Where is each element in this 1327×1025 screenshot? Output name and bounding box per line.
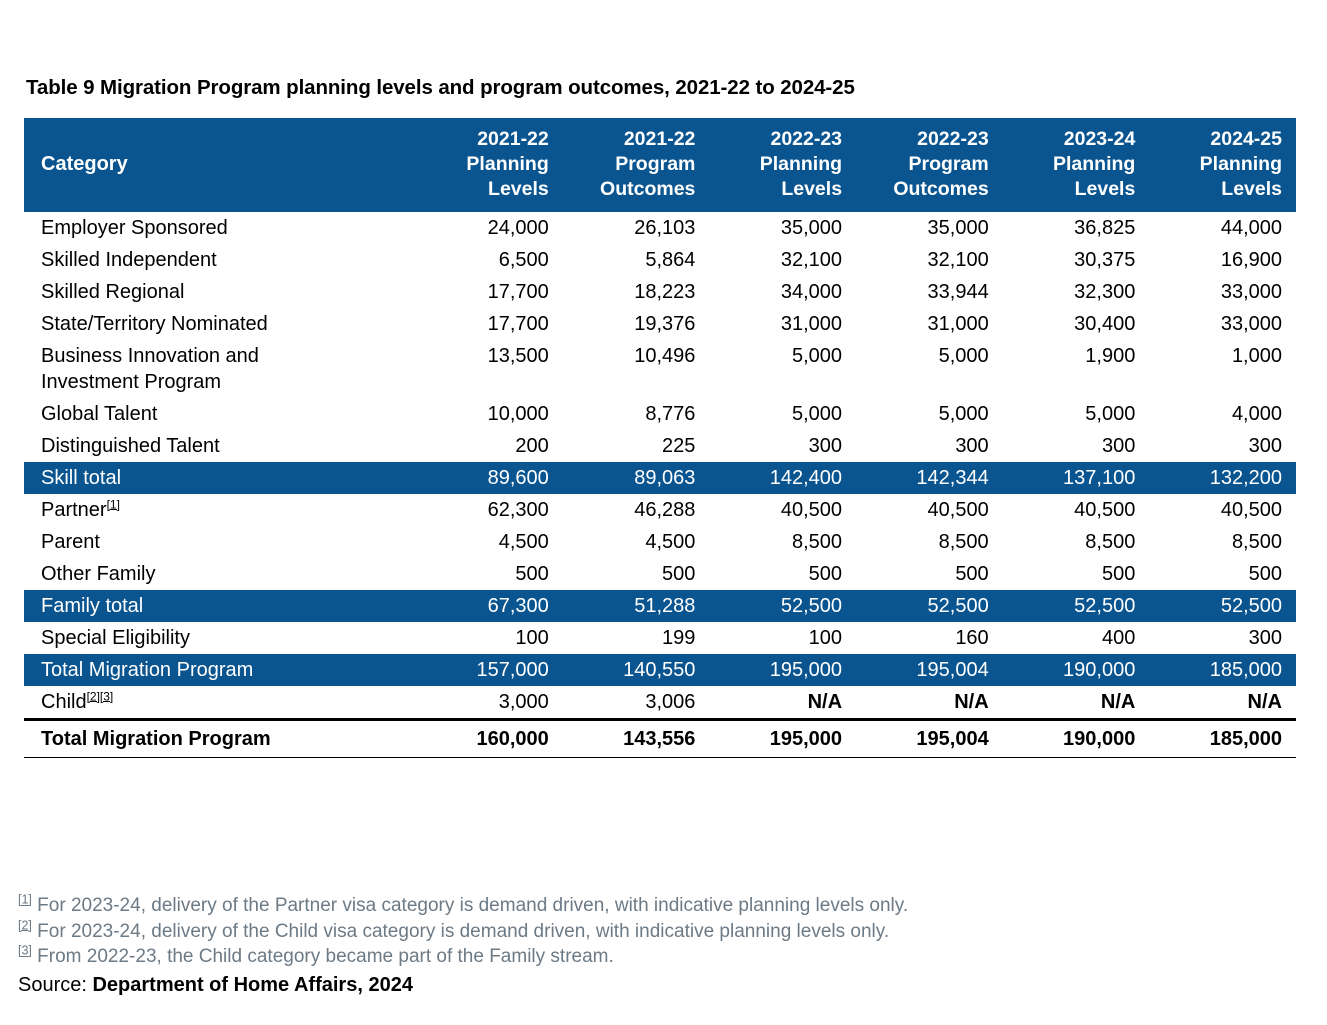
cell-value: 52,500 — [1149, 590, 1296, 622]
cell-value: 4,500 — [416, 526, 563, 558]
table-title: Table 9 Migration Program planning level… — [26, 76, 855, 100]
cell-value: 19,376 — [563, 308, 710, 340]
cell-value: 300 — [856, 430, 1003, 462]
footnote-1-text: For 2023-24, delivery of the Partner vis… — [32, 895, 908, 916]
footnote-2-text: For 2023-24, delivery of the Child visa … — [32, 921, 889, 942]
table-row: Total Migration Program160,000143,556195… — [24, 720, 1296, 758]
row-category-label: Family total — [24, 590, 416, 622]
column-header-line: Planning — [723, 152, 842, 177]
cell-value: 13,500 — [416, 340, 563, 398]
cell-value: 500 — [856, 558, 1003, 590]
source-label: Source: — [18, 974, 92, 996]
table-header-row: Category 2021-22PlanningLevels 2021-22Pr… — [24, 118, 1296, 212]
cell-value: 185,000 — [1149, 720, 1296, 758]
cell-value: 52,500 — [856, 590, 1003, 622]
cell-value: 31,000 — [856, 308, 1003, 340]
source-line: Source: Department of Home Affairs, 2024 — [18, 972, 1308, 998]
row-category-label: Total Migration Program — [24, 720, 416, 758]
cell-value: 100 — [709, 622, 856, 654]
row-category-label: Other Family — [24, 558, 416, 590]
cell-value: 51,288 — [563, 590, 710, 622]
cell-value: 24,000 — [416, 212, 563, 244]
cell-value: 8,500 — [1003, 526, 1150, 558]
cell-value: 33,944 — [856, 276, 1003, 308]
table-row: Other Family500500500500500500 — [24, 558, 1296, 590]
cell-value: 500 — [709, 558, 856, 590]
table-header: Category 2021-22PlanningLevels 2021-22Pr… — [24, 118, 1296, 212]
column-header-line: Program — [577, 152, 696, 177]
cell-value: 36,825 — [1003, 212, 1150, 244]
footnote-1: [1] For 2023-24, delivery of the Partner… — [18, 893, 1308, 919]
cell-value: 195,000 — [709, 654, 856, 686]
cell-value: 40,500 — [1003, 494, 1150, 526]
footnote-3-marker: [3] — [18, 944, 32, 958]
cell-value: 40,500 — [1149, 494, 1296, 526]
cell-value: 500 — [563, 558, 710, 590]
row-category-label: Total Migration Program — [24, 654, 416, 686]
cell-value: 190,000 — [1003, 654, 1150, 686]
column-header-line: Outcomes — [577, 177, 696, 202]
cell-value: 26,103 — [563, 212, 710, 244]
cell-value: 89,600 — [416, 462, 563, 494]
table-row: Employer Sponsored24,00026,10335,00035,0… — [24, 212, 1296, 244]
cell-value: 8,500 — [1149, 526, 1296, 558]
table-row: Special Eligibility100199100160400300 — [24, 622, 1296, 654]
cell-value: 31,000 — [709, 308, 856, 340]
column-header-line: Planning — [430, 152, 549, 177]
cell-value: 195,000 — [709, 720, 856, 758]
column-header-line: 2021-22 — [430, 127, 549, 152]
cell-value: N/A — [1149, 686, 1296, 720]
table-row: Skilled Regional17,70018,22334,00033,944… — [24, 276, 1296, 308]
cell-value: 142,344 — [856, 462, 1003, 494]
column-header-line: Levels — [1163, 177, 1282, 202]
footnote-1-marker: [1] — [18, 893, 32, 907]
cell-value: 157,000 — [416, 654, 563, 686]
cell-value: N/A — [1003, 686, 1150, 720]
table-row: Global Talent10,0008,7765,0005,0005,0004… — [24, 398, 1296, 430]
row-category-label: Child[2][3] — [24, 686, 416, 720]
column-header-2023-24-planning-levels: 2023-24PlanningLevels — [1003, 118, 1150, 212]
cell-value: 5,000 — [1003, 398, 1150, 430]
cell-value: 40,500 — [856, 494, 1003, 526]
column-header-line: 2023-24 — [1017, 127, 1136, 152]
footnote-2: [2] For 2023-24, delivery of the Child v… — [18, 919, 1308, 945]
row-category-label: Distinguished Talent — [24, 430, 416, 462]
cell-value: 32,100 — [856, 244, 1003, 276]
cell-value: 52,500 — [709, 590, 856, 622]
table-row: Parent4,5004,5008,5008,5008,5008,500 — [24, 526, 1296, 558]
column-header-line: Planning — [1163, 152, 1282, 177]
cell-value: 160 — [856, 622, 1003, 654]
cell-value: 16,900 — [1149, 244, 1296, 276]
document-page: Table 9 Migration Program planning level… — [0, 0, 1327, 1025]
cell-value: N/A — [709, 686, 856, 720]
footnotes-block: [1] For 2023-24, delivery of the Partner… — [18, 893, 1308, 998]
column-header-line: Outcomes — [870, 177, 989, 202]
table-row: Partner[1]62,30046,28840,50040,50040,500… — [24, 494, 1296, 526]
cell-value: 5,000 — [709, 340, 856, 398]
cell-value: 195,004 — [856, 720, 1003, 758]
cell-value: 190,000 — [1003, 720, 1150, 758]
column-header-line: 2024-25 — [1163, 127, 1282, 152]
cell-value: 8,776 — [563, 398, 710, 430]
table-row: Total Migration Program157,000140,550195… — [24, 654, 1296, 686]
cell-value: 40,500 — [709, 494, 856, 526]
cell-value: 10,000 — [416, 398, 563, 430]
table-row: Business Innovation and Investment Progr… — [24, 340, 1296, 398]
cell-value: 67,300 — [416, 590, 563, 622]
cell-value: 33,000 — [1149, 308, 1296, 340]
cell-value: 100 — [416, 622, 563, 654]
row-category-label: Skilled Independent — [24, 244, 416, 276]
row-category-label: Parent — [24, 526, 416, 558]
row-category-label: Skill total — [24, 462, 416, 494]
cell-value: 33,000 — [1149, 276, 1296, 308]
footnote-marker[interactable]: [1] — [107, 497, 120, 511]
cell-value: 32,300 — [1003, 276, 1150, 308]
cell-value: 137,100 — [1003, 462, 1150, 494]
footnote-marker[interactable]: [3] — [100, 689, 113, 703]
cell-value: 62,300 — [416, 494, 563, 526]
cell-value: 4,500 — [563, 526, 710, 558]
cell-value: 3,000 — [416, 686, 563, 720]
cell-value: 5,000 — [709, 398, 856, 430]
cell-value: 52,500 — [1003, 590, 1150, 622]
cell-value: 225 — [563, 430, 710, 462]
table-body: Employer Sponsored24,00026,10335,00035,0… — [24, 212, 1296, 758]
migration-program-table: Category 2021-22PlanningLevels 2021-22Pr… — [24, 118, 1296, 758]
cell-value: 300 — [1003, 430, 1150, 462]
cell-value: 46,288 — [563, 494, 710, 526]
table-row: Family total67,30051,28852,50052,50052,5… — [24, 590, 1296, 622]
table-row: State/Territory Nominated17,70019,37631,… — [24, 308, 1296, 340]
cell-value: 185,000 — [1149, 654, 1296, 686]
cell-value: 400 — [1003, 622, 1150, 654]
cell-value: 4,000 — [1149, 398, 1296, 430]
cell-value: 6,500 — [416, 244, 563, 276]
cell-value: 8,500 — [856, 526, 1003, 558]
column-header-2021-22-program-outcomes: 2021-22ProgramOutcomes — [563, 118, 710, 212]
cell-value: 199 — [563, 622, 710, 654]
column-header-2024-25-planning-levels: 2024-25PlanningLevels — [1149, 118, 1296, 212]
source-value: Department of Home Affairs, 2024 — [92, 974, 412, 996]
column-header-2022-23-planning-levels: 2022-23PlanningLevels — [709, 118, 856, 212]
footnote-3: [3] From 2022-23, the Child category bec… — [18, 944, 1308, 970]
cell-value: 500 — [1003, 558, 1150, 590]
cell-value: 200 — [416, 430, 563, 462]
cell-value: 89,063 — [563, 462, 710, 494]
column-header-line: Levels — [1017, 177, 1136, 202]
cell-value: 30,400 — [1003, 308, 1150, 340]
column-header-line: Levels — [430, 177, 549, 202]
cell-value: 44,000 — [1149, 212, 1296, 244]
cell-value: 5,864 — [563, 244, 710, 276]
footnote-marker[interactable]: [2] — [87, 689, 100, 703]
cell-value: 18,223 — [563, 276, 710, 308]
table-row: Child[2][3]3,0003,006N/AN/AN/AN/A — [24, 686, 1296, 720]
column-header-line: Program — [870, 152, 989, 177]
cell-value: 35,000 — [856, 212, 1003, 244]
column-header-2022-23-program-outcomes: 2022-23ProgramOutcomes — [856, 118, 1003, 212]
cell-value: 32,100 — [709, 244, 856, 276]
footnote-2-marker: [2] — [18, 918, 32, 932]
row-category-label: Business Innovation and Investment Progr… — [24, 340, 416, 398]
row-category-label: Global Talent — [24, 398, 416, 430]
cell-value: 30,375 — [1003, 244, 1150, 276]
column-header-category: Category — [24, 118, 416, 212]
cell-value: 300 — [1149, 430, 1296, 462]
cell-value: 17,700 — [416, 276, 563, 308]
column-header-line: 2021-22 — [577, 127, 696, 152]
cell-value: 17,700 — [416, 308, 563, 340]
column-header-2021-22-planning-levels: 2021-22PlanningLevels — [416, 118, 563, 212]
row-category-label: Employer Sponsored — [24, 212, 416, 244]
cell-value: N/A — [856, 686, 1003, 720]
cell-value: 8,500 — [709, 526, 856, 558]
cell-value: 300 — [709, 430, 856, 462]
row-category-label: Skilled Regional — [24, 276, 416, 308]
column-header-line: 2022-23 — [723, 127, 842, 152]
footnote-3-text: From 2022-23, the Child category became … — [32, 946, 614, 967]
cell-value: 142,400 — [709, 462, 856, 494]
cell-value: 500 — [416, 558, 563, 590]
cell-value: 1,900 — [1003, 340, 1150, 398]
cell-value: 195,004 — [856, 654, 1003, 686]
cell-value: 140,550 — [563, 654, 710, 686]
cell-value: 34,000 — [709, 276, 856, 308]
table-row: Skilled Independent6,5005,86432,10032,10… — [24, 244, 1296, 276]
cell-value: 1,000 — [1149, 340, 1296, 398]
row-category-label: Partner[1] — [24, 494, 416, 526]
cell-value: 500 — [1149, 558, 1296, 590]
cell-value: 300 — [1149, 622, 1296, 654]
cell-value: 5,000 — [856, 340, 1003, 398]
column-header-line: Planning — [1017, 152, 1136, 177]
cell-value: 10,496 — [563, 340, 710, 398]
cell-value: 160,000 — [416, 720, 563, 758]
column-header-line: 2022-23 — [870, 127, 989, 152]
cell-value: 132,200 — [1149, 462, 1296, 494]
cell-value: 3,006 — [563, 686, 710, 720]
row-category-label: Special Eligibility — [24, 622, 416, 654]
cell-value: 143,556 — [563, 720, 710, 758]
table-row: Skill total89,60089,063142,400142,344137… — [24, 462, 1296, 494]
cell-value: 35,000 — [709, 212, 856, 244]
column-header-line: Levels — [723, 177, 842, 202]
cell-value: 5,000 — [856, 398, 1003, 430]
row-category-label: State/Territory Nominated — [24, 308, 416, 340]
table-row: Distinguished Talent200225300300300300 — [24, 430, 1296, 462]
